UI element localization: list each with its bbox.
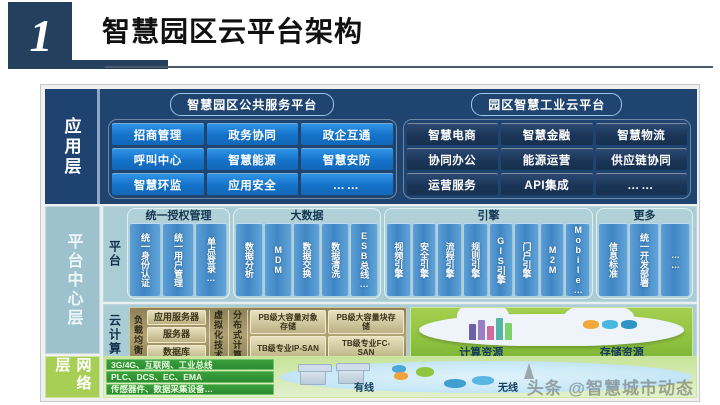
network-tag[interactable]: PLC、DCS、EC、EMA [106, 371, 274, 382]
compute-servers-icon [469, 318, 512, 340]
panel-title-industrial-cloud: 园区智慧工业云平台 [471, 93, 622, 116]
disk-icon [394, 372, 408, 380]
storage-column-object: PB级大容量对象存储 TB级专业IP-SAN [250, 310, 326, 360]
platform-chip[interactable]: 数据分析 [236, 223, 263, 296]
router-icon [444, 379, 466, 388]
network-tag[interactable]: 3G/4G、互联网、工业总线 [106, 359, 274, 370]
app-tile[interactable]: 政企互通 [301, 123, 393, 145]
group-big-data: 大数据 数据分析 MDM 数据交换 数据清洗 ESB总线… [233, 208, 381, 299]
disk-icon [416, 367, 434, 377]
router-icon [472, 376, 494, 385]
app-tile[interactable]: 供应链协同 [596, 148, 688, 170]
platform-center-layer: 平台中心层 平台 统一授权管理 统一身份认证 统一用户管理 单点登录… [45, 206, 697, 354]
platform-chip[interactable]: M2M [541, 223, 565, 296]
app-tile[interactable]: 运营服务 [407, 173, 499, 195]
platform-chip[interactable]: 数据交换 [294, 223, 321, 296]
virtualization-label: 虚拟化技术 [212, 310, 225, 360]
app-tile[interactable]: 应用安全 [207, 173, 299, 195]
app-tile[interactable]: 智慧安防 [301, 148, 393, 170]
watermark: 头条 @智慧城市动态 [527, 374, 694, 398]
storage-box[interactable]: PB级大容量对象存储 [250, 310, 326, 334]
group-title: 统一授权管理 [130, 210, 227, 222]
platform-chip[interactable]: 统一身份认证 [130, 223, 161, 296]
platform-chip[interactable]: Mobile… [566, 223, 590, 296]
title-divider [105, 66, 713, 68]
group-unified-auth: 统一授权管理 统一身份认证 统一用户管理 单点登录… [127, 208, 230, 299]
network-tag-list: 3G/4G、互联网、工业总线 PLC、DCS、EC、EMA 传感器件、数据采集设… [104, 357, 276, 397]
platform-row-label: 平台 [104, 207, 126, 301]
network-tag[interactable]: 传感器件、数据采集设备… [106, 384, 274, 395]
storage-box[interactable]: PB级大容量块存储 [328, 310, 404, 334]
storage-disks-icon [583, 320, 637, 329]
storage-column-block: PB级大容量块存储 TB级专业FC-SAN [328, 310, 404, 360]
app-tile-more[interactable]: …… [301, 173, 393, 195]
platform-chip[interactable]: …… [661, 223, 690, 296]
platform-chip[interactable]: MDM [265, 223, 292, 296]
application-layer-label: 应用层 [45, 89, 100, 204]
public-service-grid: 招商管理 政务协同 政企互通 呼叫中心 智慧能源 智慧安防 智慧环监 应用安全 … [108, 119, 397, 199]
server-stack: 应用服务器 服务器 数据库 [147, 310, 206, 360]
industrial-cloud-grid: 智慧电商 智慧金融 智慧物流 协同办公 能源运营 供应链协同 运营服务 API集… [403, 119, 692, 199]
wired-caption: 有线 [354, 379, 374, 394]
page-title: 智慧园区云平台架构 [102, 10, 363, 50]
load-balance-section: 负载均衡 应用服务器 服务器 数据库 [132, 310, 210, 360]
slide-number-badge: 1 [8, 2, 72, 68]
network-layer: 网络层 3G/4G、互联网、工业总线 PLC、DCS、EC、EMA 传感器件、数… [45, 356, 697, 398]
platform-chip[interactable]: 统一开发部署 [630, 223, 659, 296]
platform-chip[interactable]: 数据清洗 [322, 223, 349, 296]
group-title: 引擎 [387, 210, 590, 222]
building-icon [300, 368, 326, 385]
app-tile[interactable]: 智慧物流 [596, 123, 688, 145]
app-tile[interactable]: 智慧电商 [407, 123, 499, 145]
app-tile[interactable]: 能源运营 [501, 148, 593, 170]
load-balance-label: 负载均衡 [132, 310, 145, 360]
app-tile[interactable]: API集成 [501, 173, 593, 195]
group-engine: 引擎 视频引擎 安全引擎 流程引擎 规则引擎 GIS引擎 门户引擎 M2M Mo… [384, 208, 593, 299]
network-layer-label: 网络层 [45, 356, 100, 398]
distributed-computing-label: 分布式计算 [231, 310, 244, 360]
platform-chip[interactable]: 单点登录… [196, 223, 227, 296]
platform-chip[interactable]: 门户引擎 [515, 223, 539, 296]
app-tile[interactable]: 智慧环监 [112, 173, 204, 195]
industrial-cloud-platform-panel: 园区智慧工业云平台 智慧电商 智慧金融 智慧物流 协同办公 能源运营 供应链协同… [403, 93, 692, 199]
platform-row: 平台 统一授权管理 统一身份认证 统一用户管理 单点登录… 大数据 [103, 206, 697, 302]
platform-chip[interactable]: 安全引擎 [413, 223, 437, 296]
platform-chip[interactable]: 规则引擎 [464, 223, 488, 296]
cloud-shape-icon [419, 314, 684, 346]
app-tile[interactable]: 智慧金融 [501, 123, 593, 145]
wireless-caption: 无线 [498, 379, 518, 394]
app-tile[interactable]: 政务协同 [207, 123, 299, 145]
group-more: 更多 信息标准 统一开发部署 …… [596, 208, 693, 299]
public-service-platform-panel: 智慧园区公共服务平台 招商管理 政务协同 政企互通 呼叫中心 智慧能源 智慧安防… [108, 93, 397, 199]
app-tile[interactable]: 招商管理 [112, 123, 204, 145]
platform-chip[interactable]: 视频引擎 [387, 223, 411, 296]
virtualization-section: 虚拟化技术 [212, 310, 229, 360]
network-scene: 有线 无线 头条 @智慧城市动态 [276, 357, 696, 397]
application-layer: 应用层 智慧园区公共服务平台 招商管理 政务协同 政企互通 呼叫中心 智慧能源 … [45, 89, 697, 204]
cloud-resources-panel: 计算资源 存储资源 [410, 307, 693, 363]
slide-root: 1 智慧园区云平台架构 应用层 智慧园区公共服务平台 招商管理 政务协同 政企互… [0, 0, 720, 405]
platform-chip[interactable]: 信息标准 [599, 223, 628, 296]
infra-box[interactable]: 服务器 [147, 327, 206, 342]
app-tile[interactable]: 呼叫中心 [112, 148, 204, 170]
platform-chip[interactable]: 统一用户管理 [163, 223, 194, 296]
panel-title-public-service: 智慧园区公共服务平台 [170, 93, 334, 116]
architecture-diagram: 应用层 智慧园区公共服务平台 招商管理 政务协同 政企互通 呼叫中心 智慧能源 … [40, 84, 700, 402]
platform-chip[interactable]: GIS引擎 [490, 223, 514, 296]
app-tile-more[interactable]: …… [596, 173, 688, 195]
group-title: 更多 [599, 210, 690, 222]
infra-box[interactable]: 应用服务器 [147, 310, 206, 325]
platform-chip[interactable]: 流程引擎 [438, 223, 462, 296]
cloud-infrastructure-block: 负载均衡 应用服务器 服务器 数据库 虚拟化技术 [129, 307, 407, 363]
distributed-computing-section: 分布式计算 [231, 310, 248, 360]
group-title: 大数据 [236, 210, 378, 222]
platform-center-layer-label: 平台中心层 [45, 206, 100, 354]
app-tile[interactable]: 协同办公 [407, 148, 499, 170]
slide-number: 1 [8, 2, 72, 68]
platform-chip[interactable]: ESB总线… [351, 223, 378, 296]
app-tile[interactable]: 智慧能源 [207, 148, 299, 170]
